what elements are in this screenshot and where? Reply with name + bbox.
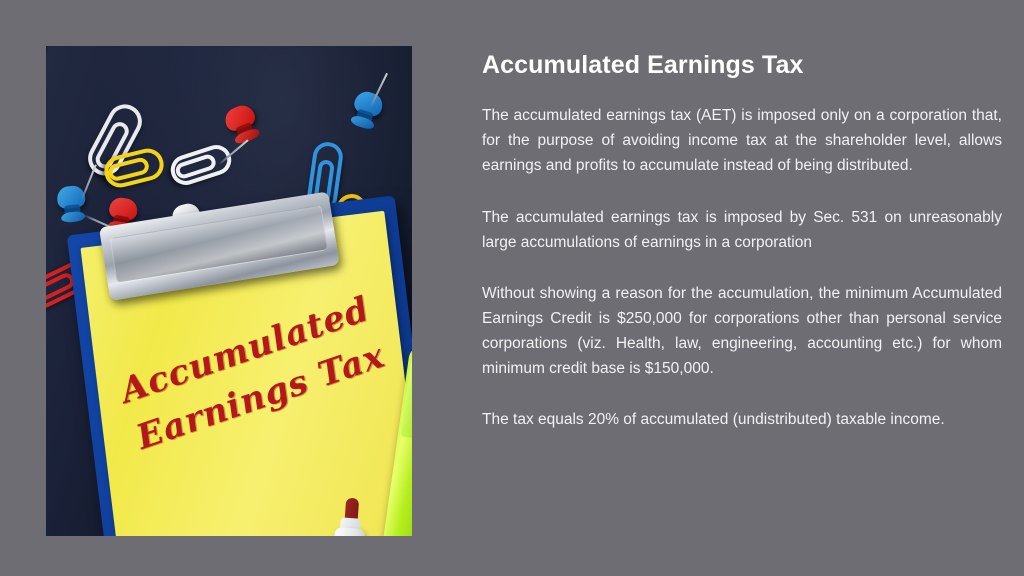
page-title: Accumulated Earnings Tax	[482, 50, 1002, 81]
marker-pen	[331, 497, 367, 536]
paragraph-2: The accumulated earnings tax is imposed …	[482, 205, 1002, 255]
slide-content: Accumulated Earnings Tax The accumulated…	[482, 50, 1002, 432]
handwritten-note: Accumulated Earnings Tax	[114, 282, 401, 463]
paragraph-1: The accumulated earnings tax (AET) is im…	[482, 103, 1002, 178]
clipboard: dreamstime I D 1 3 8 6 1 6 4 0 3 Accumul…	[67, 195, 412, 536]
slide: dreamstime I D 1 3 8 6 1 6 4 0 3 Accumul…	[0, 0, 1024, 576]
paragraph-3: Without showing a reason for the accumul…	[482, 281, 1002, 381]
slide-image: dreamstime I D 1 3 8 6 1 6 4 0 3 Accumul…	[46, 46, 412, 536]
paragraph-4: The tax equals 20% of accumulated (undis…	[482, 407, 1002, 432]
pushpin-blue-2	[56, 185, 88, 228]
